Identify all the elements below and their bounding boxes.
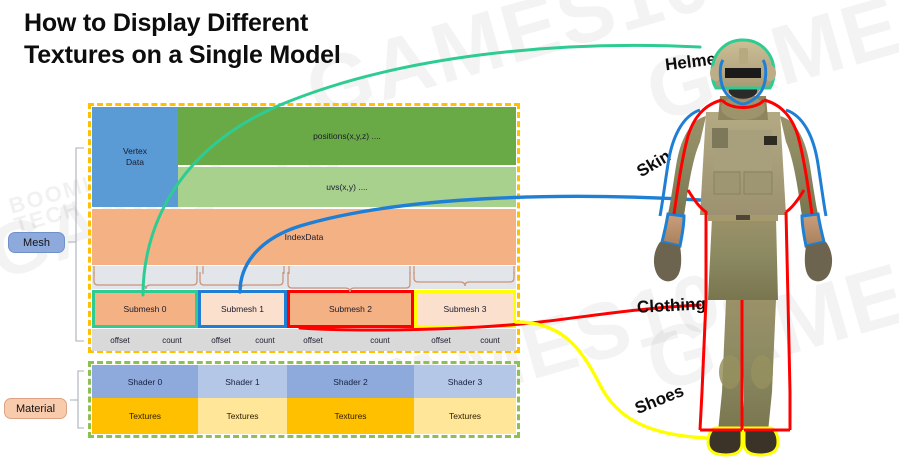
boot-right	[744, 428, 778, 455]
radio-pouch	[712, 128, 728, 148]
sunglasses	[725, 68, 761, 78]
forearm-right	[802, 214, 824, 246]
pouch-right	[744, 172, 772, 194]
vest-tab	[764, 136, 777, 145]
arm-right	[780, 116, 818, 216]
boot-left	[708, 428, 742, 455]
glove-left	[654, 242, 681, 281]
soldier-figure	[0, 0, 899, 470]
knee-pad-left	[719, 355, 741, 389]
helmet-mount	[739, 48, 748, 64]
knee-pad-right	[751, 355, 773, 389]
glove-right	[805, 242, 832, 281]
slide-canvas: GAMES104 GAMES104 GAMES104 GAMES104 GAME…	[0, 0, 899, 470]
pouch-left	[714, 172, 740, 194]
arm-left	[668, 116, 706, 216]
forearm-left	[662, 214, 684, 246]
hips	[708, 218, 778, 300]
